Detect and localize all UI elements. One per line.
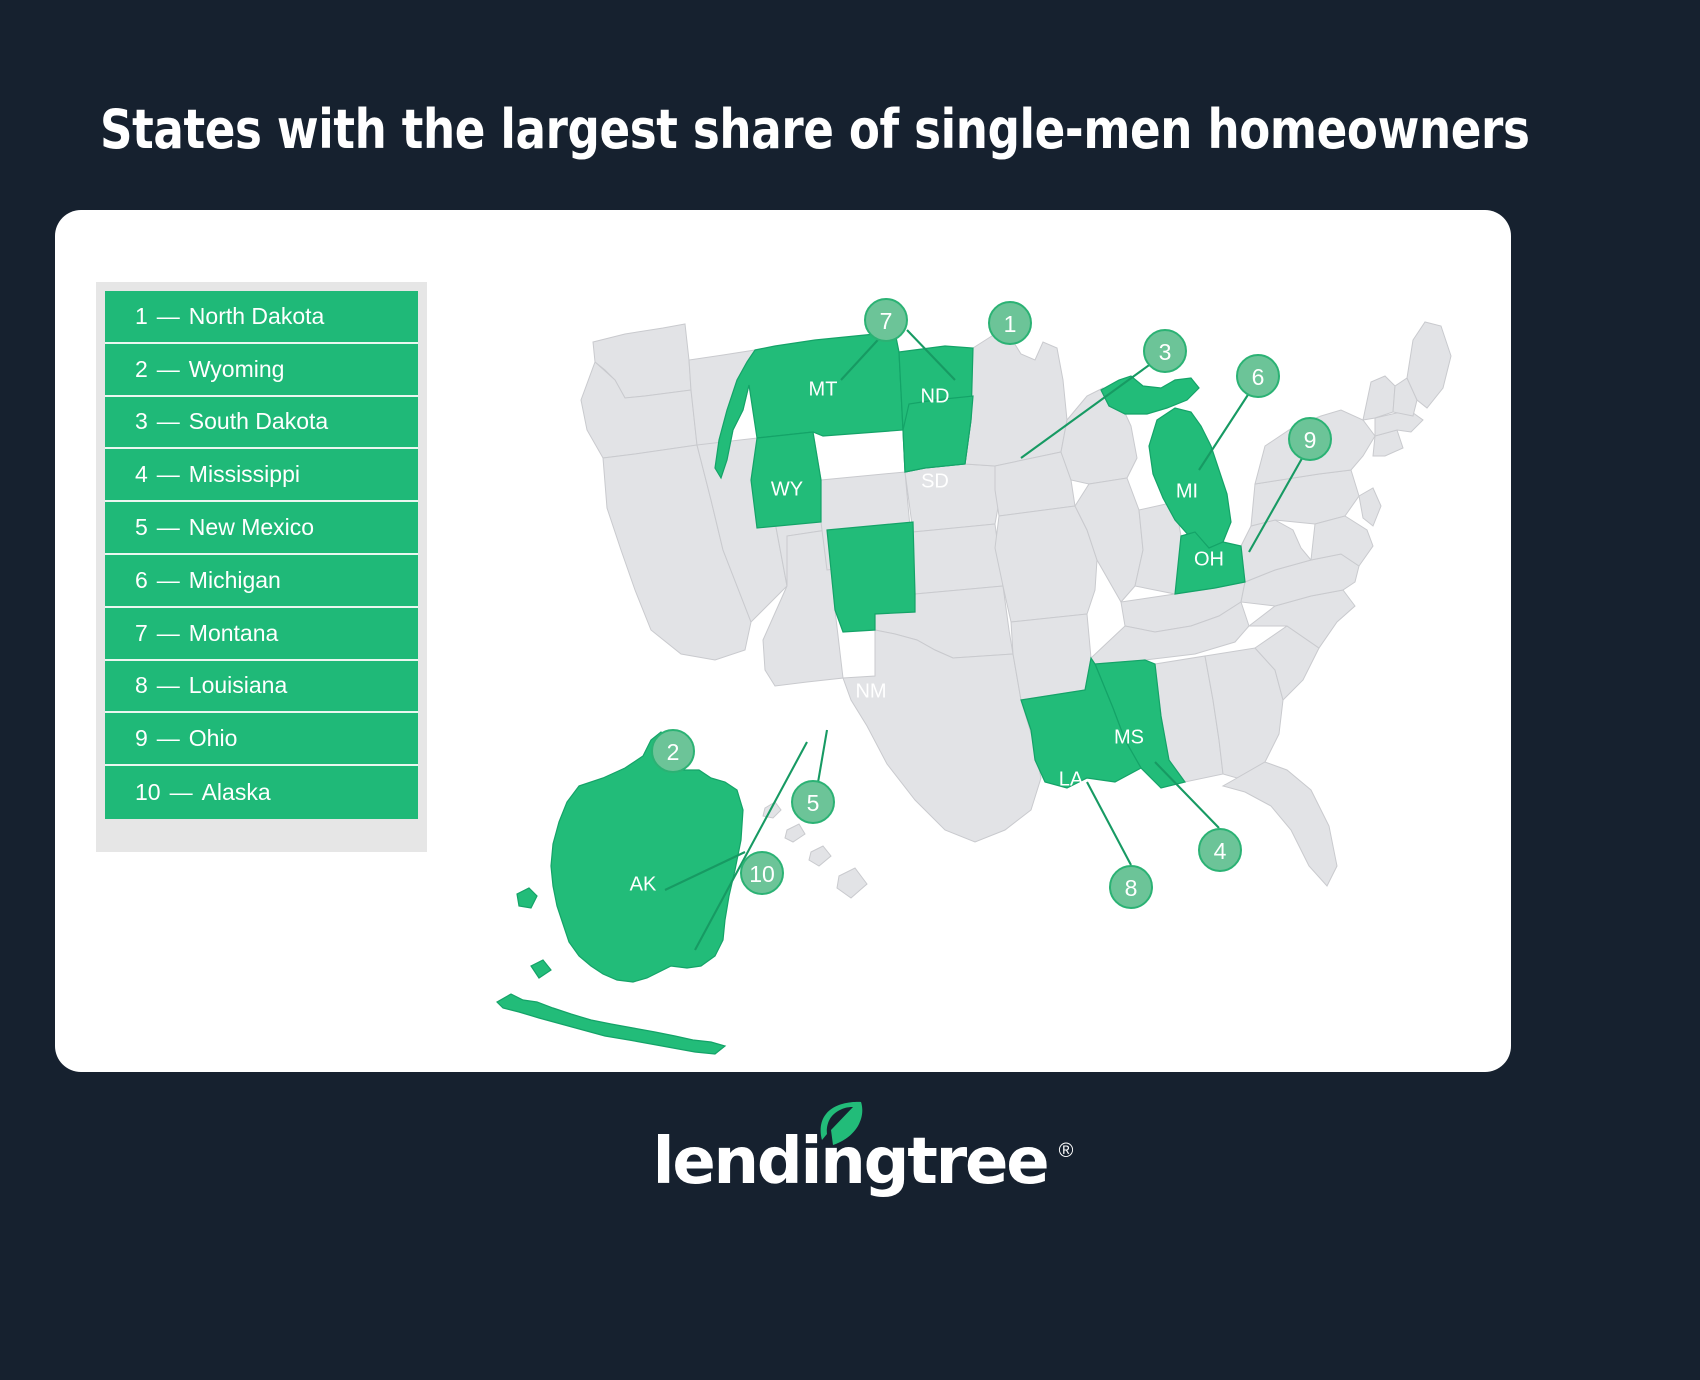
map-marker-8[interactable]: 8 [1110, 866, 1152, 908]
state-new-jersey [1359, 488, 1381, 526]
state-texas [843, 630, 1041, 842]
legend-item[interactable]: 8 — Louisiana [105, 661, 418, 714]
leader-line-6 [1199, 384, 1255, 470]
legend-rank: 7 [135, 620, 148, 647]
legend-item[interactable]: 2 — Wyoming [105, 344, 418, 397]
legend-item[interactable]: 3 — South Dakota [105, 397, 418, 450]
legend-rank: 4 [135, 461, 148, 488]
map-marker-3[interactable]: 3 [1144, 330, 1186, 372]
map-marker-9[interactable]: 9 [1289, 418, 1331, 460]
legend-rank: 10 [135, 779, 161, 806]
legend-item[interactable]: 6 — Michigan [105, 555, 418, 608]
leaf-icon [817, 1100, 863, 1150]
legend-state-name: North Dakota [189, 303, 325, 330]
legend-item[interactable]: 1 — North Dakota [105, 291, 418, 344]
legend-panel: 1 — North Dakota 2 — Wyoming 3 — South D… [96, 282, 427, 852]
legend-item[interactable]: 4 — Mississippi [105, 449, 418, 502]
legend-rank: 5 [135, 514, 148, 541]
legend-state-name: Alaska [202, 779, 271, 806]
svg-text:2: 2 [667, 739, 680, 765]
legend-state-name: Louisiana [189, 672, 287, 699]
state-alaska[interactable] [497, 732, 743, 1054]
state-florida [1223, 762, 1337, 886]
legend-state-name: South Dakota [189, 408, 328, 435]
svg-text:10: 10 [749, 861, 775, 887]
legend-state-name: Montana [189, 620, 279, 647]
legend-dash: — [157, 725, 180, 752]
legend-state-name: Wyoming [189, 356, 285, 383]
state-label-nm: NM [855, 680, 886, 702]
legend-rank: 1 [135, 303, 148, 330]
legend-state-name: New Mexico [189, 514, 314, 541]
state-label-oh: OH [1194, 548, 1224, 570]
legend-rank: 9 [135, 725, 148, 752]
map-marker-4[interactable]: 4 [1199, 829, 1241, 871]
legend-dash: — [157, 567, 180, 594]
legend-item[interactable]: 5 — New Mexico [105, 502, 418, 555]
state-kansas [913, 524, 1003, 594]
legend-rank: 3 [135, 408, 148, 435]
map-marker-6[interactable]: 6 [1237, 355, 1279, 397]
legend-state-name: Michigan [189, 567, 281, 594]
svg-text:5: 5 [807, 790, 820, 816]
svg-text:3: 3 [1159, 339, 1172, 365]
state-label-wy: WY [771, 478, 803, 500]
state-missouri [995, 506, 1097, 622]
legend-rank: 8 [135, 672, 148, 699]
legend-dash: — [157, 303, 180, 330]
map-marker-10[interactable]: 10 [741, 852, 783, 894]
state-label-mt: MT [809, 378, 838, 400]
legend-dash: — [157, 620, 180, 647]
legend-state-name: Mississippi [189, 461, 300, 488]
svg-text:6: 6 [1252, 364, 1265, 390]
state-minnesota [965, 334, 1067, 466]
state-label-mi: MI [1176, 480, 1198, 502]
registered-trademark-icon: ® [1059, 1140, 1074, 1163]
legend-dash: — [157, 672, 180, 699]
legend-item[interactable]: 7 — Montana [105, 608, 418, 661]
legend-state-name: Ohio [189, 725, 238, 752]
state-michigan-upper[interactable] [1101, 376, 1199, 414]
map-marker-1[interactable]: 1 [989, 302, 1031, 344]
state-nebraska [905, 464, 999, 532]
infographic-root: States with the largest share of single-… [0, 0, 1700, 1380]
map-marker-5[interactable]: 5 [792, 781, 834, 823]
svg-text:4: 4 [1214, 838, 1227, 864]
content-card: 1 — North Dakota 2 — Wyoming 3 — South D… [55, 210, 1511, 1072]
state-label-ms: MS [1114, 726, 1144, 748]
map-marker-2[interactable]: 2 [652, 730, 694, 772]
svg-text:1: 1 [1004, 311, 1017, 337]
state-label-la: LA [1059, 768, 1084, 790]
svg-text:8: 8 [1125, 875, 1138, 901]
map-marker-7[interactable]: 7 [865, 299, 907, 341]
us-map: MT ND SD WY NM MI OH MS LA AK [475, 230, 1495, 1060]
svg-text:9: 9 [1304, 427, 1317, 453]
state-label-nd: ND [921, 385, 950, 407]
legend-dash: — [170, 779, 193, 806]
legend-rank: 2 [135, 356, 148, 383]
state-south-dakota[interactable] [903, 396, 973, 472]
leader-line-8 [1087, 782, 1131, 865]
legend-item[interactable]: 10 — Alaska [105, 766, 418, 819]
page-title: States with the largest share of single-… [100, 98, 1495, 163]
legend-item[interactable]: 9 — Ohio [105, 713, 418, 766]
svg-text:7: 7 [880, 308, 893, 334]
state-label-ak: AK [630, 873, 657, 895]
state-vermont [1363, 376, 1395, 420]
state-arkansas [1011, 614, 1091, 700]
legend-rank: 6 [135, 567, 148, 594]
legend-dash: — [157, 356, 180, 383]
legend-dash: — [157, 514, 180, 541]
legend-dash: — [157, 461, 180, 488]
footer-logo: lendingtree ® [0, 1130, 1700, 1194]
legend-dash: — [157, 408, 180, 435]
state-label-sd: SD [921, 470, 949, 492]
